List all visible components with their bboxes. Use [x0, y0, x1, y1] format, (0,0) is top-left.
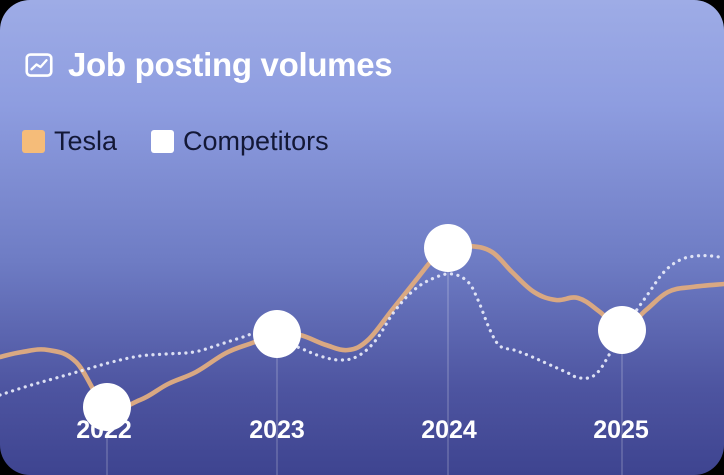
x-axis-tick-2022: 2022 [76, 418, 132, 443]
data-point-marker-2024[interactable] [424, 224, 472, 272]
data-point-marker-2025[interactable] [598, 306, 646, 354]
x-axis-tick-2024: 2024 [421, 418, 477, 443]
chart-plot-area[interactable] [0, 0, 724, 475]
x-axis-tick-2023: 2023 [249, 418, 305, 443]
data-point-marker-2023[interactable] [253, 310, 301, 358]
x-axis-tick-2025: 2025 [593, 418, 649, 443]
chart-card: Job posting volumes Tesla Competitors 20… [0, 0, 724, 475]
data-point-markers[interactable] [83, 224, 646, 431]
